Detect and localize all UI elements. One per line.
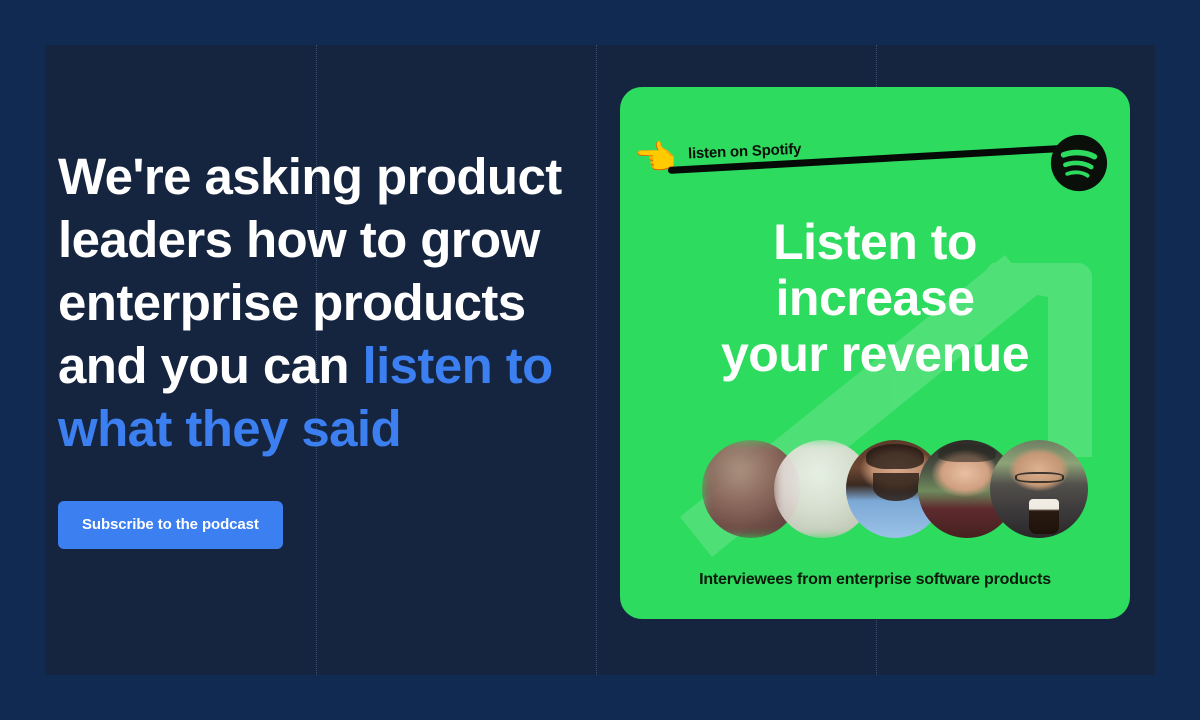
card-title-line-1: Listen to xyxy=(638,214,1112,270)
page-root: We're asking product leaders how to grow… xyxy=(0,0,1200,720)
card-caption: Interviewees from enterprise software pr… xyxy=(620,571,1130,589)
interviewee-avatar-group xyxy=(702,439,1062,539)
card-title-line-3: your revenue xyxy=(638,326,1112,382)
card-title: Listen to increase your revenue xyxy=(620,214,1130,382)
guide-line-2 xyxy=(596,45,597,675)
spotify-logo-icon[interactable] xyxy=(1050,134,1108,192)
listen-on-spotify-label: listen on Spotify xyxy=(688,141,802,163)
subscribe-to-podcast-button[interactable]: Subscribe to the podcast xyxy=(58,501,283,549)
page-title: We're asking product leaders how to grow… xyxy=(58,145,578,460)
card-header: 👈 listen on Spotify xyxy=(620,117,1130,197)
card-title-line-2: increase xyxy=(638,270,1112,326)
spotify-promo-card[interactable]: 👈 listen on Spotify Listen to increase y… xyxy=(620,87,1130,619)
avatar-interviewee-3 xyxy=(990,440,1088,538)
hero-text-column: We're asking product leaders how to grow… xyxy=(58,145,578,549)
